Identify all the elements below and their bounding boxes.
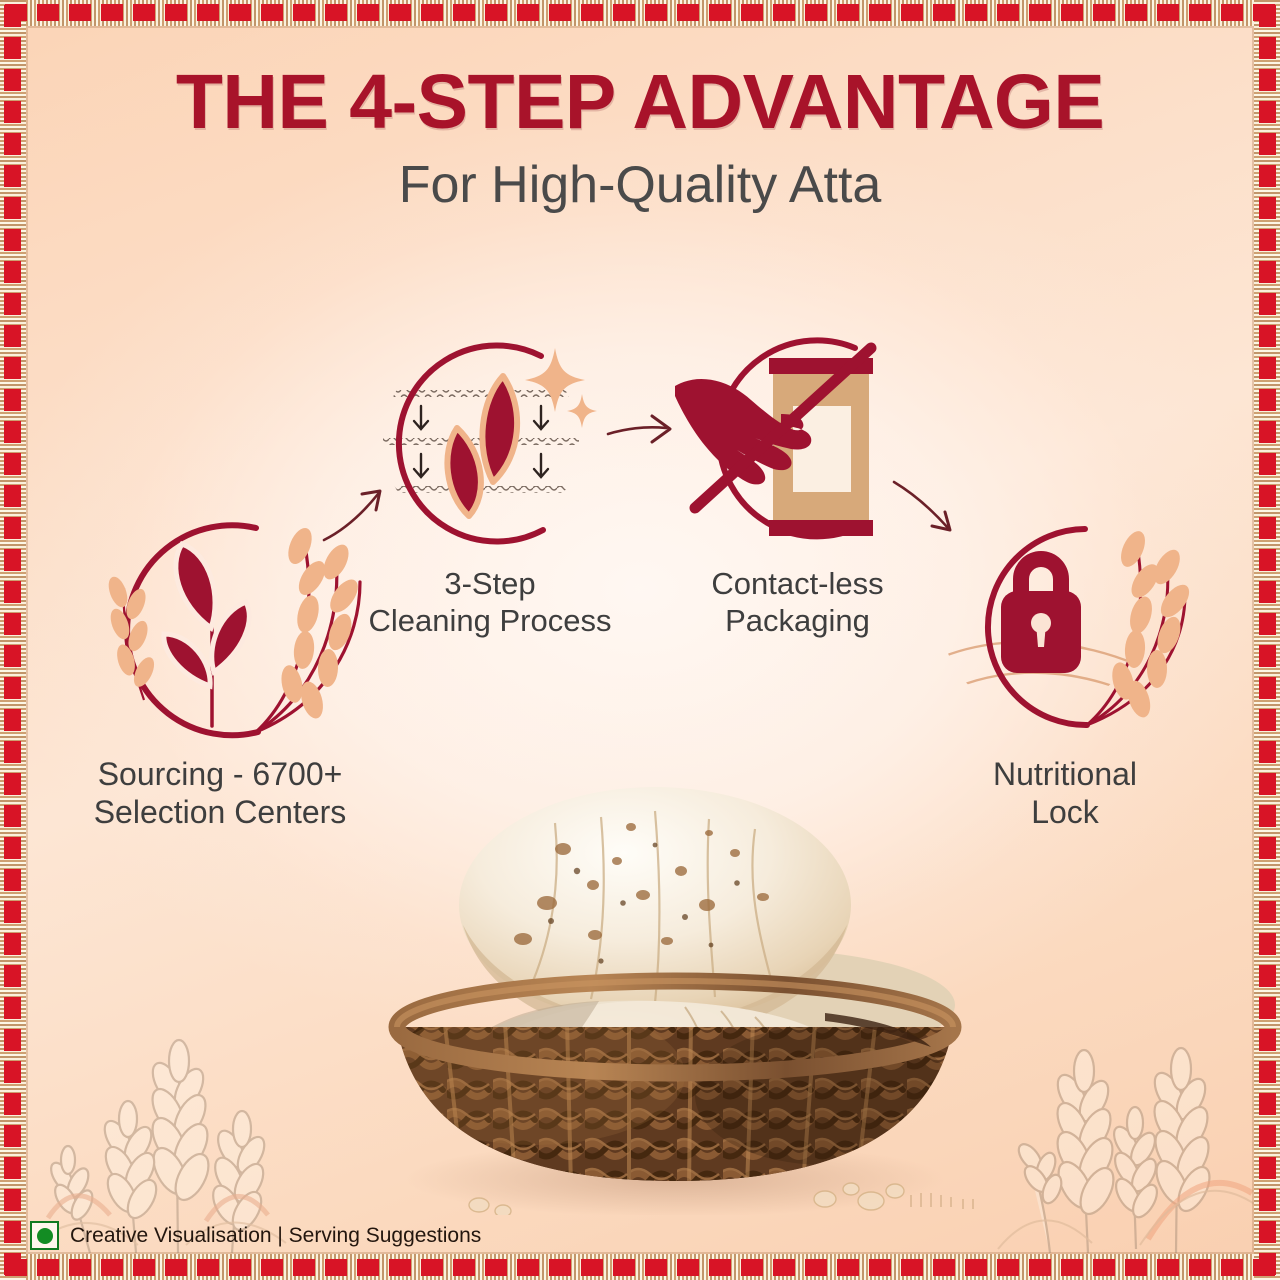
arrow-step2-to-step3-icon (604, 404, 682, 465)
step-cleaning-label: 3-Step Cleaning Process (365, 565, 615, 639)
step-cleaning: 3-Step Cleaning Process (365, 330, 615, 639)
sieve-cleaning-icon (365, 330, 615, 555)
page-title: THE 4-STEP ADVANTAGE (0, 58, 1280, 147)
footer-disclaimer: Creative Visualisation | Serving Suggest… (30, 1221, 481, 1250)
roti-basket-photo (355, 775, 995, 1215)
step-sourcing-label: Sourcing - 6700+ Selection Centers (60, 755, 380, 832)
padlock-wheat-icon (935, 505, 1195, 745)
wheat-illustration-left (18, 953, 318, 1258)
wheat-illustration-right (980, 973, 1260, 1258)
footer-text: Creative Visualisation | Serving Suggest… (70, 1224, 481, 1248)
poster-canvas: THE 4-STEP ADVANTAGE For High-Quality At… (0, 0, 1280, 1280)
page-subtitle: For High-Quality Atta (0, 155, 1280, 215)
step-packaging-label: Contact-less Packaging (665, 565, 930, 639)
vegetarian-mark-icon (30, 1221, 59, 1250)
arrow-step1-to-step2-icon (318, 478, 398, 555)
arrow-step3-to-step4-icon (888, 470, 968, 547)
